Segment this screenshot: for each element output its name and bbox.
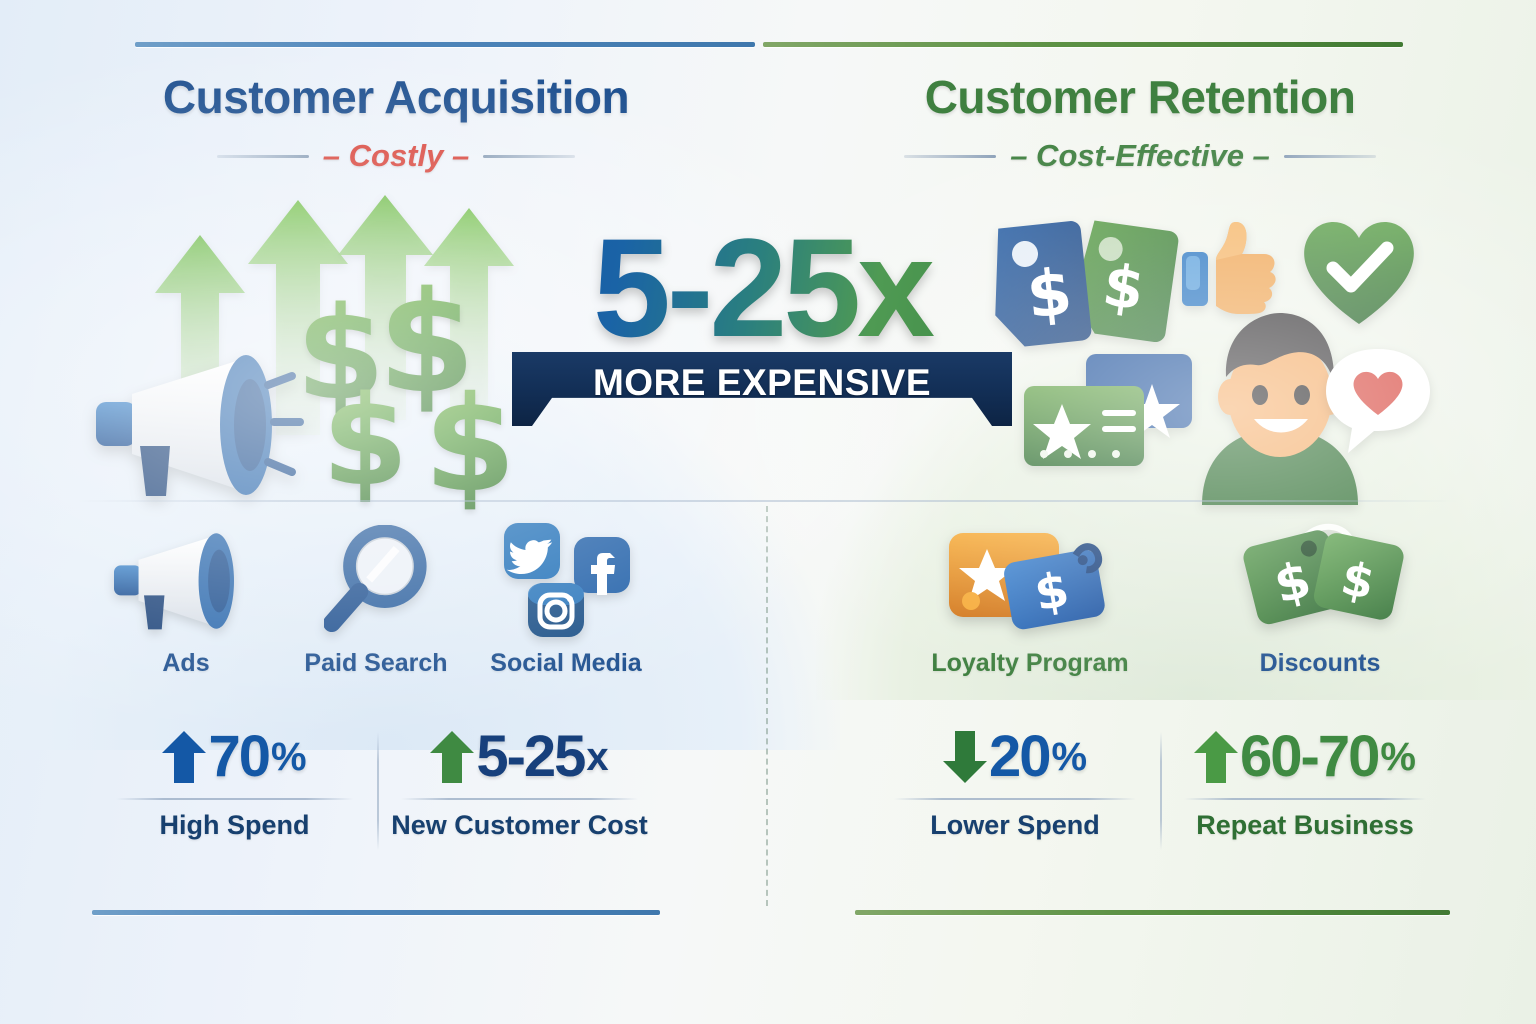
more-expensive-banner: MORE EXPENSIVE <box>512 352 1012 426</box>
acquisition-channels: Ads Paid Search <box>96 515 656 678</box>
subtitle-dash-left <box>904 155 996 158</box>
retention-subtitle: – Cost-Effective – <box>1010 138 1270 174</box>
arrow-up-icon <box>162 729 206 785</box>
stat-value: 5-25 x <box>383 728 656 786</box>
megaphone-icon <box>114 529 264 633</box>
svg-text:$: $ <box>1023 256 1075 334</box>
social-icons <box>502 521 632 639</box>
stat-unit: % <box>1051 737 1087 777</box>
channel-loyalty-program[interactable]: $ Loyalty Program <box>905 515 1155 678</box>
channel-label: Social Media <box>476 649 656 678</box>
channel-art <box>96 515 276 643</box>
speech-bubble-heart-icon <box>1322 345 1434 457</box>
banner-wrap: MORE EXPENSIVE <box>512 352 1012 432</box>
thumbs-up-icon <box>1180 220 1280 316</box>
channel-art <box>476 515 656 643</box>
stat-value: 20 % <box>876 728 1154 786</box>
bottom-rule-left <box>92 910 660 915</box>
arrow-up-icon <box>1194 729 1238 785</box>
channel-label: Loyalty Program <box>905 649 1155 678</box>
channel-label: Ads <box>96 649 276 678</box>
infographic-canvas: Customer Acquisition – Costly – Customer… <box>0 0 1536 1024</box>
stat-new-customer-cost: 5-25 x New Customer Cost <box>377 728 662 840</box>
multiplier-value: 5-25x <box>512 218 1012 358</box>
channel-art: $ <box>905 515 1155 643</box>
channel-label: Discounts <box>1195 649 1445 678</box>
acquisition-title: Customer Acquisition <box>96 70 696 124</box>
megaphone-icon <box>96 350 316 500</box>
dollar-sign-icon: $ <box>424 368 516 522</box>
stat-unit: % <box>271 737 307 777</box>
stat-value: 70 % <box>98 728 371 786</box>
arrow-up-icon <box>430 729 474 785</box>
stat-rule <box>894 798 1136 800</box>
stat-unit: x <box>586 737 608 777</box>
stat-high-spend: 70 % High Spend <box>92 728 377 840</box>
bottom-rule-right <box>855 910 1450 915</box>
channel-social-media[interactable]: Social Media <box>476 515 656 678</box>
subtitle-dash-left <box>217 155 309 158</box>
stat-rule <box>1184 798 1426 800</box>
header-retention: Customer Retention – Cost-Effective – <box>840 70 1440 174</box>
banner-label: MORE EXPENSIVE <box>593 352 931 404</box>
stat-rule <box>116 798 353 800</box>
retention-stats: 20 % Lower Spend 60-70 % Repeat Business <box>870 728 1450 840</box>
stat-label: Repeat Business <box>1166 810 1444 840</box>
channel-label: Paid Search <box>286 649 466 678</box>
price-tags-icon: $ $ <box>1243 519 1408 639</box>
top-rule-left <box>135 42 755 47</box>
stat-rule <box>401 798 638 800</box>
stat-label: High Spend <box>98 810 371 840</box>
stat-value: 60-70 % <box>1166 728 1444 786</box>
acquisition-stats: 70 % High Spend 5-25 x New Customer Cost <box>92 728 662 840</box>
stat-label: New Customer Cost <box>383 810 656 840</box>
channel-discounts[interactable]: $ $ Discounts <box>1195 515 1445 678</box>
stat-number: 5-25 <box>476 728 584 786</box>
dollar-sign-icon: $ <box>322 370 408 514</box>
stat-lower-spend: 20 % Lower Spend <box>870 728 1160 840</box>
channel-art <box>286 515 466 643</box>
magnifier-icon <box>324 525 432 635</box>
price-tag-icon: $ $ <box>995 210 1195 370</box>
channel-ads[interactable]: Ads <box>96 515 276 678</box>
retention-channels: $ Loyalty Program <box>905 515 1445 678</box>
stat-repeat-business: 60-70 % Repeat Business <box>1160 728 1450 840</box>
subtitle-dash-right <box>483 155 575 158</box>
subtitle-dash-right <box>1284 155 1376 158</box>
vertical-divider <box>766 506 768 906</box>
channel-paid-search[interactable]: Paid Search <box>286 515 466 678</box>
loyalty-card-icon <box>1020 350 1200 470</box>
stat-unit: % <box>1380 737 1416 777</box>
stat-number: 20 <box>989 728 1050 786</box>
retention-subtitle-row: – Cost-Effective – <box>840 138 1440 174</box>
stat-number: 60-70 <box>1240 728 1378 786</box>
top-rule-right <box>763 42 1403 47</box>
horizontal-divider <box>78 500 1458 502</box>
stat-label: Lower Spend <box>876 810 1154 840</box>
header-acquisition: Customer Acquisition – Costly – <box>96 70 696 174</box>
loyalty-card-icon: $ <box>947 521 1117 637</box>
stat-number: 70 <box>208 728 269 786</box>
center-highlight: 5-25x MORE EXPENSIVE <box>512 218 1012 432</box>
acquisition-subtitle-row: – Costly – <box>96 138 696 174</box>
retention-title: Customer Retention <box>840 70 1440 124</box>
channel-art: $ $ <box>1195 515 1445 643</box>
acquisition-subtitle: – Costly – <box>323 138 469 174</box>
arrow-down-icon <box>943 729 987 785</box>
